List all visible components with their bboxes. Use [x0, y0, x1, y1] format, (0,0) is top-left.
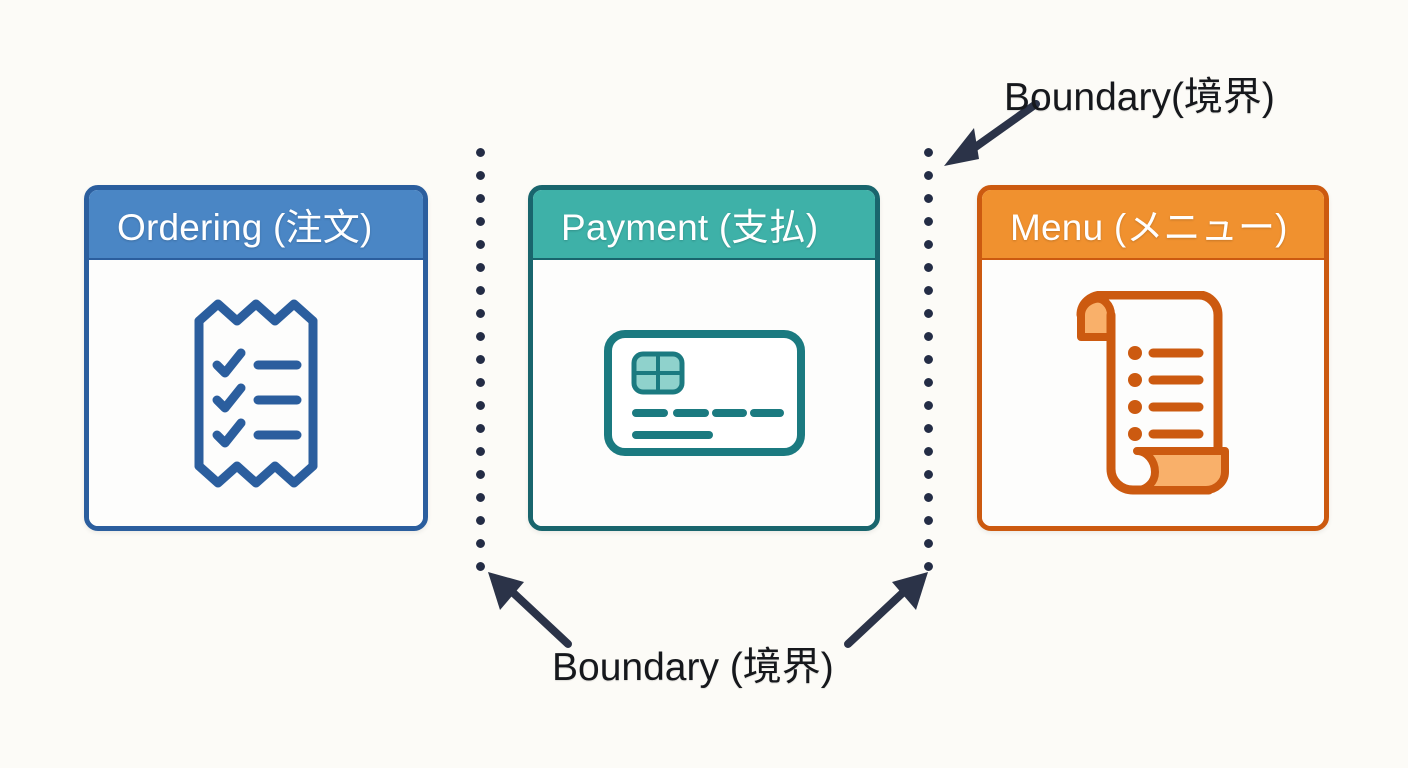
card-ordering-title: Ordering (注文) — [117, 197, 372, 251]
receipt-checklist-icon — [89, 260, 423, 526]
boundary-divider-right — [924, 148, 933, 584]
card-menu-title: Menu (メニュー) — [1010, 197, 1288, 251]
scroll-list-icon — [982, 260, 1324, 526]
card-payment-header: Payment (支払) — [533, 190, 875, 260]
boundary-divider-left — [476, 148, 485, 584]
card-ordering-header: Ordering (注文) — [89, 190, 423, 260]
diagram-canvas: Ordering (注文) — [0, 0, 1408, 768]
card-ordering-body — [89, 260, 423, 526]
card-payment[interactable]: Payment (支払) — [528, 185, 880, 531]
credit-card-icon — [533, 260, 875, 526]
boundary-label-top-right: Boundary(境界) — [1004, 66, 1275, 122]
card-payment-title: Payment (支払) — [561, 197, 818, 251]
card-ordering[interactable]: Ordering (注文) — [84, 185, 428, 531]
bottom-right-boundary-arrow — [840, 568, 936, 648]
card-menu-body — [982, 260, 1324, 526]
card-menu[interactable]: Menu (メニュー) — [977, 185, 1329, 531]
card-menu-header: Menu (メニュー) — [982, 190, 1324, 260]
boundary-label-bottom-center: Boundary (境界) — [552, 636, 834, 692]
card-payment-body — [533, 260, 875, 526]
